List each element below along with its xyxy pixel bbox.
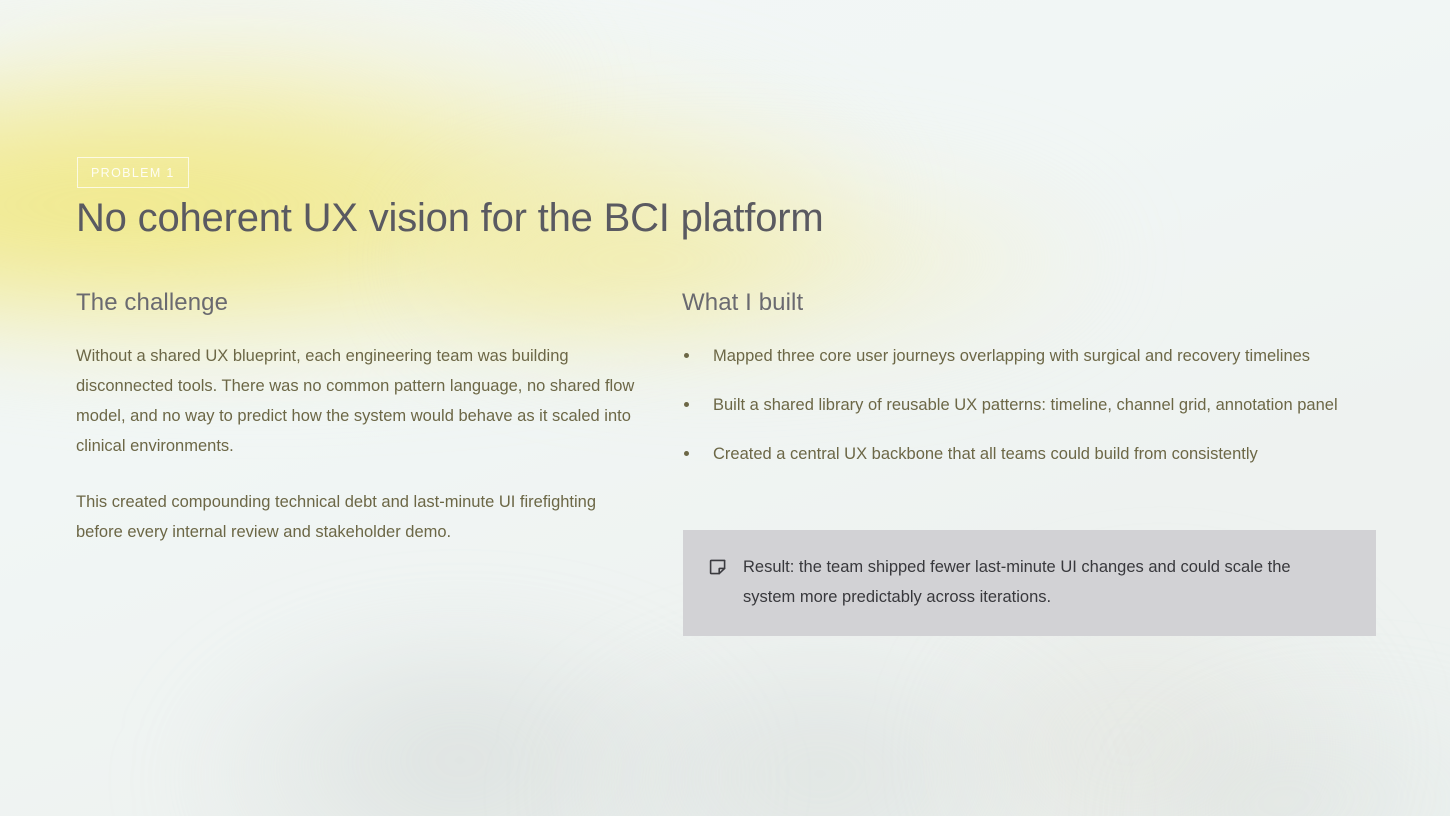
- challenge-paragraph: This created compounding technical debt …: [76, 487, 636, 547]
- list-item-label: Created a central UX backbone that all t…: [713, 445, 1258, 463]
- list-item: Created a central UX backbone that all t…: [682, 439, 1376, 469]
- built-list: Mapped three core user journeys overlapp…: [682, 341, 1376, 469]
- bullet-dot-icon: [684, 353, 689, 358]
- challenge-column: The challenge Without a shared UX bluepr…: [76, 289, 682, 547]
- built-heading: What I built: [682, 289, 1376, 317]
- list-item: Mapped three core user journeys overlapp…: [682, 341, 1376, 371]
- problem-badge-label: PROBLEM 1: [91, 166, 175, 180]
- list-item: Built a shared library of reusable UX pa…: [682, 390, 1376, 420]
- sticky-note-icon: [709, 558, 727, 576]
- page-title: No coherent UX vision for the BCI platfo…: [76, 196, 823, 241]
- result-callout: Result: the team shipped fewer last-minu…: [683, 530, 1376, 636]
- built-column: What I built Mapped three core user jour…: [682, 289, 1376, 547]
- result-callout-text: Result: the team shipped fewer last-minu…: [743, 552, 1343, 612]
- case-study-slide: PROBLEM 1 No coherent UX vision for the …: [0, 0, 1450, 816]
- challenge-paragraph: Without a shared UX blueprint, each engi…: [76, 341, 636, 461]
- list-item-label: Built a shared library of reusable UX pa…: [713, 396, 1338, 414]
- list-item-label: Mapped three core user journeys overlapp…: [713, 347, 1310, 365]
- problem-badge: PROBLEM 1: [77, 157, 189, 188]
- challenge-heading: The challenge: [76, 289, 682, 317]
- bullet-dot-icon: [684, 451, 689, 456]
- content-columns: The challenge Without a shared UX bluepr…: [76, 289, 1376, 547]
- bullet-dot-icon: [684, 402, 689, 407]
